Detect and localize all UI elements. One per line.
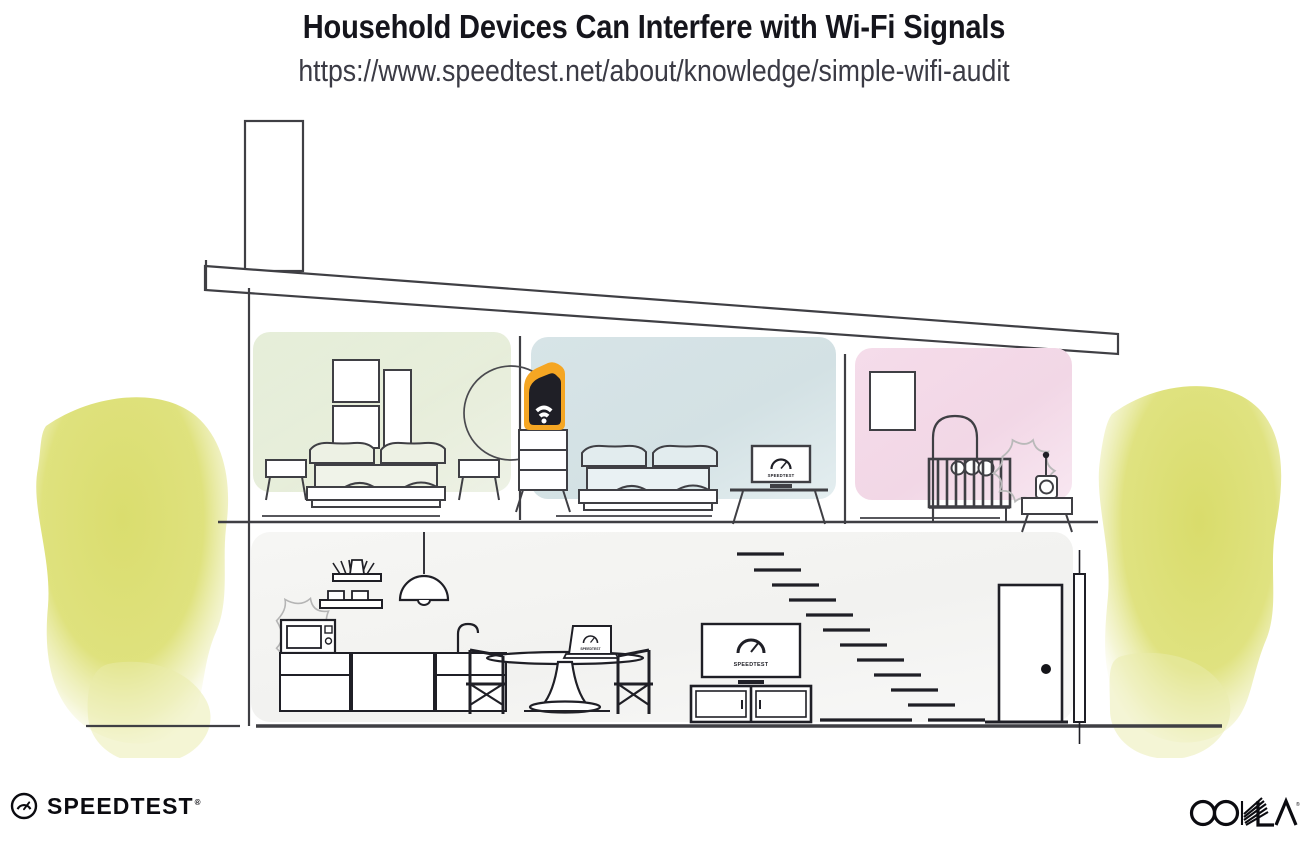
svg-text:SPEEDTEST: SPEEDTEST bbox=[580, 647, 601, 651]
ookla-logo[interactable]: ® OOKLA bbox=[1188, 796, 1300, 835]
bedroom-middle-contents: SPEEDTEST bbox=[579, 446, 828, 524]
bed2-pillow-right bbox=[653, 446, 717, 466]
shelf-lower bbox=[320, 600, 382, 608]
media-console bbox=[691, 686, 811, 722]
header: Household Devices Can Interfere with Wi-… bbox=[0, 0, 1308, 89]
bed-pillow-left bbox=[310, 443, 374, 463]
monitor-speaker bbox=[1040, 481, 1053, 494]
footer: SPEEDTEST® ® OOKLA bbox=[0, 780, 1308, 850]
roof-structure bbox=[205, 121, 1118, 354]
speedtest-wordmark: SPEEDTEST® bbox=[47, 793, 202, 820]
source-url: https://www.speedtest.net/about/knowledg… bbox=[92, 46, 1217, 89]
infographic-page: Household Devices Can Interfere with Wi-… bbox=[0, 0, 1308, 861]
bed-frame bbox=[312, 500, 440, 507]
speedtest-wordmark-text: SPEEDTEST bbox=[47, 793, 194, 819]
side-table bbox=[1022, 498, 1072, 514]
bed-pillow-right bbox=[381, 443, 445, 463]
door-knob bbox=[1041, 664, 1051, 674]
microwave-panel bbox=[325, 626, 332, 633]
microwave-dial bbox=[326, 638, 332, 644]
ookla-wordmark-text: OOKLA bbox=[1300, 796, 1301, 797]
monitor-screen-label: SPEEDTEST bbox=[768, 473, 795, 478]
wall-frame-3 bbox=[384, 370, 411, 448]
tv-stand bbox=[738, 680, 764, 684]
speedtest-logo[interactable]: SPEEDTEST® bbox=[10, 792, 202, 820]
narrow-window bbox=[1074, 550, 1085, 744]
bed2-pillow-left bbox=[582, 446, 646, 466]
ookla-trademark: ® bbox=[1296, 801, 1300, 808]
bed2-base bbox=[579, 490, 717, 503]
microwave-window bbox=[287, 626, 321, 648]
ookla-wordmark-icon: ® bbox=[1188, 796, 1300, 830]
wall-frame-2 bbox=[333, 406, 379, 448]
shelving-unit bbox=[516, 430, 570, 512]
chimney bbox=[245, 121, 303, 271]
laptop: SPEEDTEST bbox=[564, 626, 618, 658]
speedtest-gauge-icon bbox=[10, 792, 38, 820]
bed2-frame bbox=[584, 503, 712, 510]
page-title: Household Devices Can Interfere with Wi-… bbox=[78, 0, 1229, 46]
foliage-right bbox=[1099, 386, 1281, 758]
speedtest-trademark: ® bbox=[195, 798, 202, 807]
nursery-wall-frame bbox=[870, 372, 915, 430]
television-group: SPEEDTEST bbox=[691, 624, 811, 722]
monitor-antenna-tip bbox=[1043, 452, 1049, 458]
house-cutaway-illustration: SPEEDTEST bbox=[0, 108, 1308, 758]
foliage-left bbox=[36, 397, 228, 758]
tv-screen-label: SPEEDTEST bbox=[734, 662, 769, 668]
door-panel bbox=[999, 585, 1062, 722]
wall-frame-1 bbox=[333, 360, 379, 402]
shelf-upper bbox=[333, 574, 381, 581]
desktop-monitor: SPEEDTEST bbox=[752, 446, 810, 488]
bed-base bbox=[307, 487, 445, 500]
